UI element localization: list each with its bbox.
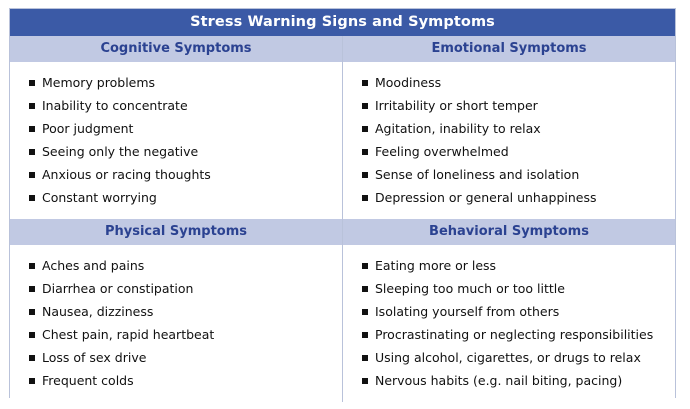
symptom-list-behavioral: Eating more or less Sleeping too much or… (343, 254, 675, 392)
list-item-label: Isolating yourself from others (375, 304, 559, 319)
filled-square-bullet-icon (29, 103, 35, 109)
list-item: Nervous habits (e.g. nail biting, pacing… (353, 369, 669, 392)
list-item: Nausea, dizziness (20, 300, 336, 323)
list-item: Depression or general unhappiness (353, 186, 669, 209)
column-header-cognitive: Cognitive Symptoms (10, 36, 343, 62)
list-item-label: Depression or general unhappiness (375, 190, 597, 205)
filled-square-bullet-icon (362, 103, 368, 109)
symptom-list-emotional: Moodiness Irritability or short temper A… (343, 71, 675, 209)
column-header-behavioral: Behavioral Symptoms (343, 219, 676, 245)
list-item-label: Constant worrying (42, 190, 157, 205)
list-item-label: Procrastinating or neglecting responsibi… (375, 327, 653, 342)
list-item: Inability to concentrate (20, 94, 336, 117)
list-item: Using alcohol, cigarettes, or drugs to r… (353, 346, 669, 369)
title-row: Stress Warning Signs and Symptoms (10, 9, 675, 36)
list-item: Loss of sex drive (20, 346, 336, 369)
page-title: Stress Warning Signs and Symptoms (10, 9, 675, 36)
filled-square-bullet-icon (29, 332, 35, 338)
list-item-label: Anxious or racing thoughts (42, 167, 211, 182)
header-row-top: Cognitive Symptoms Emotional Symptoms (10, 36, 675, 62)
cell-cognitive: Memory problems Inability to concentrate… (10, 62, 343, 219)
list-item-label: Diarrhea or constipation (42, 281, 193, 296)
cell-behavioral: Eating more or less Sleeping too much or… (343, 245, 676, 402)
list-item-label: Frequent colds (42, 373, 134, 388)
column-header-emotional: Emotional Symptoms (343, 36, 676, 62)
list-item-label: Irritability or short temper (375, 98, 538, 113)
filled-square-bullet-icon (362, 149, 368, 155)
filled-square-bullet-icon (362, 80, 368, 86)
list-item: Anxious or racing thoughts (20, 163, 336, 186)
list-item-label: Sleeping too much or too little (375, 281, 565, 296)
list-item-label: Agitation, inability to relax (375, 121, 541, 136)
filled-square-bullet-icon (362, 355, 368, 361)
page-root: Stress Warning Signs and Symptoms Cognit… (0, 0, 690, 409)
column-header-physical: Physical Symptoms (10, 219, 343, 245)
filled-square-bullet-icon (29, 355, 35, 361)
filled-square-bullet-icon (362, 286, 368, 292)
filled-square-bullet-icon (362, 126, 368, 132)
filled-square-bullet-icon (29, 195, 35, 201)
list-item-label: Eating more or less (375, 258, 496, 273)
list-item: Memory problems (20, 71, 336, 94)
list-item: Seeing only the negative (20, 140, 336, 163)
filled-square-bullet-icon (29, 126, 35, 132)
list-item: Feeling overwhelmed (353, 140, 669, 163)
list-item: Sense of loneliness and isolation (353, 163, 669, 186)
filled-square-bullet-icon (29, 172, 35, 178)
list-item: Isolating yourself from others (353, 300, 669, 323)
list-item-label: Using alcohol, cigarettes, or drugs to r… (375, 350, 641, 365)
filled-square-bullet-icon (362, 195, 368, 201)
list-item: Frequent colds (20, 369, 336, 392)
list-item: Diarrhea or constipation (20, 277, 336, 300)
symptoms-table: Stress Warning Signs and Symptoms Cognit… (10, 9, 675, 402)
list-item: Chest pain, rapid heartbeat (20, 323, 336, 346)
list-item: Constant worrying (20, 186, 336, 209)
symptom-list-physical: Aches and pains Diarrhea or constipation… (10, 254, 342, 392)
list-item-label: Chest pain, rapid heartbeat (42, 327, 214, 342)
filled-square-bullet-icon (29, 286, 35, 292)
list-item-label: Aches and pains (42, 258, 144, 273)
list-item: Irritability or short temper (353, 94, 669, 117)
filled-square-bullet-icon (362, 172, 368, 178)
filled-square-bullet-icon (362, 378, 368, 384)
list-item: Moodiness (353, 71, 669, 94)
list-item: Aches and pains (20, 254, 336, 277)
filled-square-bullet-icon (29, 149, 35, 155)
list-item-label: Poor judgment (42, 121, 133, 136)
list-item: Sleeping too much or too little (353, 277, 669, 300)
list-item-label: Sense of loneliness and isolation (375, 167, 579, 182)
list-item: Eating more or less (353, 254, 669, 277)
list-item-label: Inability to concentrate (42, 98, 188, 113)
filled-square-bullet-icon (29, 309, 35, 315)
filled-square-bullet-icon (29, 378, 35, 384)
symptom-list-cognitive: Memory problems Inability to concentrate… (10, 71, 342, 209)
list-item-label: Loss of sex drive (42, 350, 146, 365)
filled-square-bullet-icon (362, 263, 368, 269)
list-item-label: Memory problems (42, 75, 155, 90)
cell-emotional: Moodiness Irritability or short temper A… (343, 62, 676, 219)
list-item-label: Seeing only the negative (42, 144, 198, 159)
filled-square-bullet-icon (29, 80, 35, 86)
symptoms-table-container: Stress Warning Signs and Symptoms Cognit… (9, 8, 676, 398)
list-item-label: Nausea, dizziness (42, 304, 153, 319)
filled-square-bullet-icon (362, 309, 368, 315)
list-item: Poor judgment (20, 117, 336, 140)
list-item: Agitation, inability to relax (353, 117, 669, 140)
filled-square-bullet-icon (29, 263, 35, 269)
content-row-top: Memory problems Inability to concentrate… (10, 62, 675, 219)
header-row-bottom: Physical Symptoms Behavioral Symptoms (10, 219, 675, 245)
cell-physical: Aches and pains Diarrhea or constipation… (10, 245, 343, 402)
list-item-label: Nervous habits (e.g. nail biting, pacing… (375, 373, 622, 388)
content-row-bottom: Aches and pains Diarrhea or constipation… (10, 245, 675, 402)
list-item-label: Moodiness (375, 75, 441, 90)
list-item: Procrastinating or neglecting responsibi… (353, 323, 669, 346)
list-item-label: Feeling overwhelmed (375, 144, 509, 159)
filled-square-bullet-icon (362, 332, 368, 338)
